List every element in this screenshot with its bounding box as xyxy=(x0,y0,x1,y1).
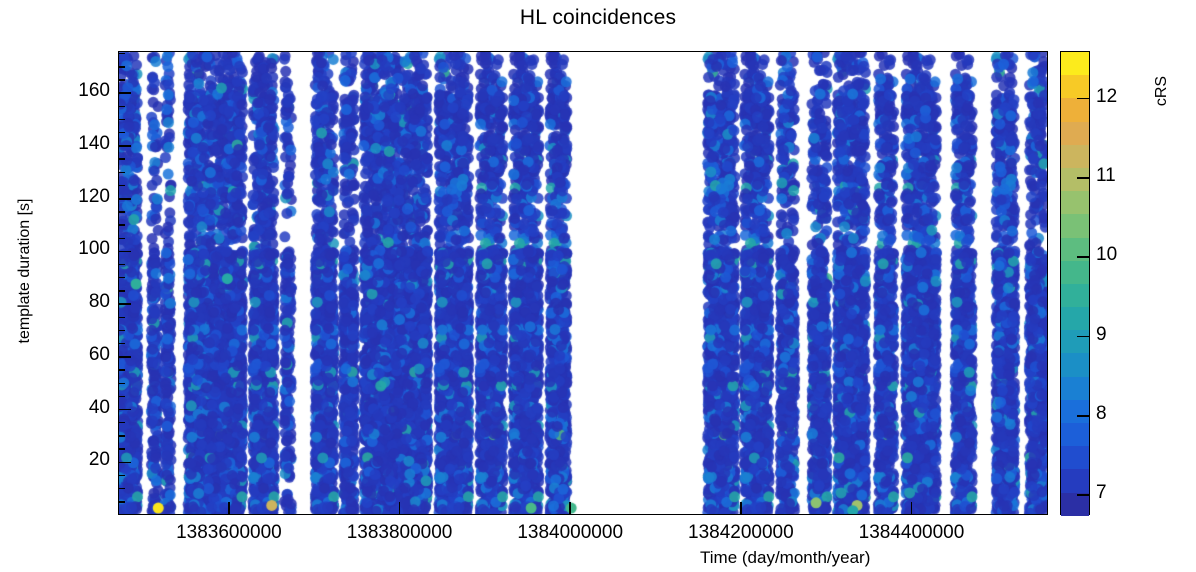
colorbar-band xyxy=(1061,145,1089,168)
y-axis-title: template duration [s] xyxy=(16,71,34,471)
y-minor-tick xyxy=(118,277,125,278)
y-minor-tick xyxy=(118,383,125,384)
colorbar-band xyxy=(1061,493,1089,516)
colorbar-band xyxy=(1061,400,1089,423)
colorbar-band xyxy=(1061,446,1089,469)
y-major-tick xyxy=(118,356,131,358)
y-major-tick xyxy=(118,303,131,305)
colorbar-band xyxy=(1061,377,1089,400)
y-minor-tick xyxy=(118,501,125,502)
y-minor-tick xyxy=(118,330,125,331)
y-minor-tick xyxy=(118,158,125,159)
chart-root: HL coincidences 204060801001201401601383… xyxy=(0,0,1196,572)
x-axis-title: Time (day/month/year) xyxy=(700,548,870,568)
colorbar-tick xyxy=(1077,336,1090,338)
colorbar-title: cRS xyxy=(1153,61,1171,121)
x-major-tick xyxy=(228,502,230,515)
y-minor-tick xyxy=(118,66,125,67)
plot-area xyxy=(118,51,1048,515)
y-minor-tick xyxy=(118,422,125,423)
colorbar-tick-label: 10 xyxy=(1096,244,1117,266)
colorbar-band xyxy=(1061,98,1089,121)
x-major-tick xyxy=(911,502,913,515)
y-minor-tick xyxy=(118,185,125,186)
y-minor-tick xyxy=(118,238,125,239)
page-title: HL coincidences xyxy=(0,6,1196,30)
y-minor-tick xyxy=(118,475,125,476)
y-minor-tick xyxy=(118,224,125,225)
y-tick-label: 60 xyxy=(22,344,110,366)
y-major-tick xyxy=(118,251,131,253)
colorbar-tick xyxy=(1077,494,1090,496)
y-minor-tick xyxy=(118,264,125,265)
colorbar-tick xyxy=(1077,98,1090,100)
y-minor-tick xyxy=(118,396,125,397)
colorbar xyxy=(1060,51,1090,515)
x-major-tick xyxy=(569,502,571,515)
x-major-tick xyxy=(740,502,742,515)
x-tick-label: 1384400000 xyxy=(833,522,989,544)
colorbar-band xyxy=(1061,52,1089,75)
y-minor-tick xyxy=(118,211,125,212)
y-tick-label: 80 xyxy=(22,291,110,313)
y-major-tick xyxy=(118,198,131,200)
y-minor-tick xyxy=(118,79,125,80)
colorbar-band xyxy=(1061,168,1089,191)
y-major-tick xyxy=(118,92,131,94)
y-tick-label: 120 xyxy=(22,186,110,208)
colorbar-gradient xyxy=(1060,51,1090,515)
colorbar-band xyxy=(1061,307,1089,330)
colorbar-band xyxy=(1061,261,1089,284)
y-tick-label: 100 xyxy=(22,238,110,260)
y-minor-tick xyxy=(118,488,125,489)
y-minor-tick xyxy=(118,435,125,436)
x-major-tick xyxy=(399,502,401,515)
colorbar-band xyxy=(1061,469,1089,492)
y-minor-tick xyxy=(118,343,125,344)
x-tick-label: 1384000000 xyxy=(492,522,648,544)
y-major-tick xyxy=(118,145,131,147)
colorbar-tick-label: 8 xyxy=(1096,403,1107,425)
y-minor-tick xyxy=(118,448,125,449)
y-tick-label: 160 xyxy=(22,80,110,102)
colorbar-tick-label: 7 xyxy=(1096,482,1107,504)
colorbar-tick-label: 9 xyxy=(1096,324,1107,346)
y-minor-tick xyxy=(118,119,125,120)
y-minor-tick xyxy=(118,317,125,318)
y-tick-label: 40 xyxy=(22,397,110,419)
y-minor-tick xyxy=(118,132,125,133)
y-minor-tick xyxy=(118,106,125,107)
colorbar-band xyxy=(1061,353,1089,376)
colorbar-band xyxy=(1061,330,1089,353)
scatter-plot-canvas xyxy=(119,52,1048,515)
x-tick-label: 1384200000 xyxy=(663,522,819,544)
colorbar-tick xyxy=(1077,256,1090,258)
y-tick-label: 140 xyxy=(22,133,110,155)
y-minor-tick xyxy=(118,369,125,370)
y-minor-tick xyxy=(118,172,125,173)
colorbar-band xyxy=(1061,284,1089,307)
colorbar-band xyxy=(1061,122,1089,145)
colorbar-band xyxy=(1061,75,1089,98)
colorbar-tick-label: 12 xyxy=(1096,86,1117,108)
x-tick-label: 1383800000 xyxy=(322,522,478,544)
colorbar-band xyxy=(1061,191,1089,214)
y-major-tick xyxy=(118,409,131,411)
y-major-tick xyxy=(118,462,131,464)
y-tick-label: 20 xyxy=(22,449,110,471)
colorbar-band xyxy=(1061,214,1089,237)
colorbar-tick-label: 11 xyxy=(1096,165,1116,187)
y-minor-tick xyxy=(118,290,125,291)
colorbar-tick xyxy=(1077,177,1090,179)
colorbar-tick xyxy=(1077,415,1090,417)
x-tick-label: 1383600000 xyxy=(151,522,307,544)
colorbar-band xyxy=(1061,423,1089,446)
y-minor-tick xyxy=(118,53,125,54)
